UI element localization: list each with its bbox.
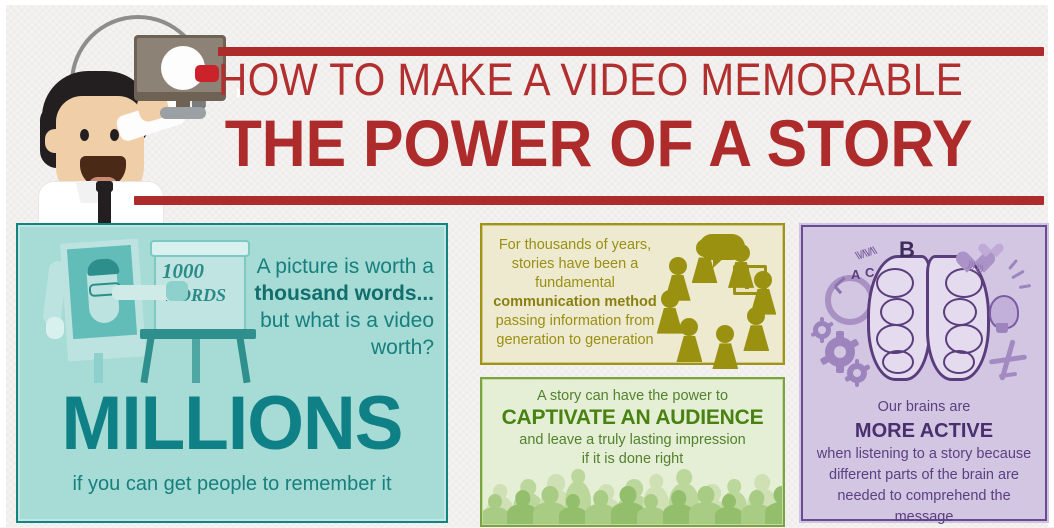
person-head [696,239,714,257]
brain-fold [880,298,914,326]
person-body [676,336,702,362]
panel-audience-inner: A story can have the power to CAPTIVATE … [482,379,783,525]
brain-fold [943,298,977,326]
pointing-hand [166,281,188,301]
brain-line4: needed to comprehend the [837,488,1010,504]
photo-left-hand [46,317,64,339]
light-ray [1011,270,1025,280]
picture-copy-line3: worth? [371,336,434,359]
lightbulb-base [996,323,1008,333]
picture-copy-line2: but what is a video [260,309,434,332]
communication-line1: For thousands of years, [499,237,651,253]
audience-line1: A story can have the power to [483,388,782,404]
light-ray [1019,284,1031,289]
pointing-arm [112,285,174,300]
character-eye-left [80,129,89,141]
panel-brain-inner: \\//\\//\\ A C B ))) ))) Our brains are … [801,225,1047,521]
page-title-line2: THE POWER OF A STORY [134,105,1054,181]
monitor-screen [137,38,223,92]
person-head [716,325,734,343]
audience-headline: CAPTIVATE AN AUDIENCE [483,406,782,430]
crowd-silhouette-icon [483,462,782,524]
airplane-icon [987,339,1027,383]
header: HOW TO MAKE A VIDEO MEMORABLE THE POWER … [6,5,1054,217]
tv-monitor-icon [134,35,226,101]
brain-copy: Our brains are MORE ACTIVE when listenin… [813,397,1035,528]
communication-line4: passing information from [496,313,655,329]
brain-illustration: \\//\\//\\ A C B ))) ))) [811,233,1043,393]
brain-headline: MORE ACTIVE [855,420,993,442]
communication-bold: communication method [493,294,657,310]
brain-fold [945,324,983,354]
panel-communication-inner: For thousands of years, stories have bee… [482,225,783,363]
person-head [680,318,698,336]
picture-copy: A picture is worth a thousand words... b… [222,253,434,361]
person-head [669,257,687,275]
letter-a: A [851,267,860,282]
brain-left-hemisphere [867,255,931,381]
crowd-person [715,494,743,524]
person-body [657,308,683,334]
panel-brain-active: \\//\\//\\ A C B ))) ))) Our brains are … [799,223,1049,523]
easel-illustration: 1000 WORDS [40,233,250,383]
brain-line3: different parts of the brain are [829,467,1019,483]
brain-line5: message [895,509,954,525]
picture-copy-line1: A picture is worth a [257,255,434,278]
youtube-play-icon [195,65,219,82]
brain-line1: Our brains are [878,399,971,415]
picture-headline: MILLIONS [28,385,435,463]
crowd-body [715,507,743,524]
person-body [712,343,738,369]
speech-bubble-tail [713,256,726,268]
gear-hole [818,326,826,334]
gear-hole [834,346,846,358]
crowd-person [559,494,587,524]
panel-picture-inner: 1000 WORDS A picture is worth a thousand… [18,225,446,521]
panel-communication-method: For thousands of years, stories have bee… [480,223,785,365]
communication-line3: fundamental [535,275,615,291]
person-head [732,244,750,262]
panel-captivate-audience: A story can have the power to CAPTIVATE … [480,377,785,527]
letter-b: B [899,237,915,263]
crowd-person [765,486,783,524]
person-head [754,271,772,289]
crowd-person [637,494,665,524]
photo-left-arm [42,260,68,326]
gear-hole [853,369,861,377]
communication-copy: For thousands of years, stories have bee… [491,236,659,350]
crowd-body [765,502,783,524]
audience-line2: and leave a truly lasting impression [483,432,782,448]
person-body [665,275,691,301]
communication-line5: generation to generation [496,332,653,348]
panel-picture-worth: 1000 WORDS A picture is worth a thousand… [16,223,448,523]
crowd-body [637,507,665,524]
light-ray [1008,259,1018,270]
character-ear [45,129,62,153]
letter-c: C [865,265,874,280]
people-circle-icon [655,232,779,354]
character-eye-right [110,129,119,141]
person-head [747,307,765,325]
page-title-line1: HOW TO MAKE A VIDEO MEMORABLE [218,55,963,105]
crowd-body [559,507,587,524]
person-body [743,325,769,351]
infographic-canvas: HOW TO MAKE A VIDEO MEMORABLE THE POWER … [0,0,1054,527]
picture-copy-bold: thousand words... [254,282,434,305]
photo-frame-stand [94,353,103,383]
picture-subline: if you can get people to remember it [20,472,444,496]
brain-fold [882,350,914,374]
brain-fold [876,268,914,298]
crowd-person [482,494,509,524]
title-rule-bottom [134,196,1044,205]
brain-fold [943,350,975,374]
crowd-body [482,507,509,524]
heart-icon-small [983,237,999,252]
communication-line2: stories have been a [512,256,639,272]
brain-line2: when listening to a story because [817,446,1031,462]
play-button-circle [161,46,205,90]
